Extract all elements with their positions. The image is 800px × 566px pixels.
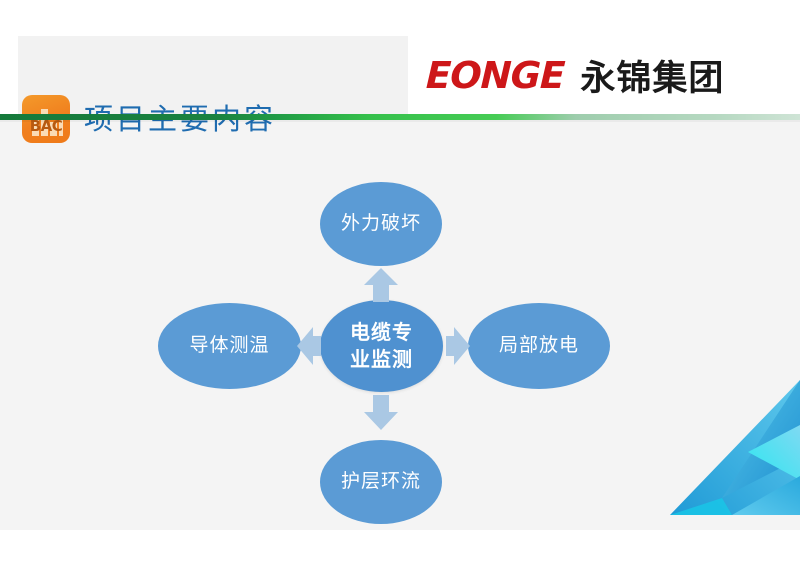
diagram-node-top[interactable]: 外力破坏 — [320, 182, 442, 266]
brand-logo: EONGE 永锦集团 — [408, 36, 800, 114]
header-left-white-edge — [0, 36, 18, 114]
slide-header: BAC 项目主要内容 EONGE 永锦集团 — [0, 36, 800, 114]
arrow-down-icon — [362, 392, 400, 432]
diagram-node-left[interactable]: 导体测温 — [158, 303, 301, 389]
concept-diagram: 外力破坏 导体测温 局部放电 护层环流 电缆专 业监测 — [0, 120, 800, 530]
diagram-node-bottom[interactable]: 护层环流 — [320, 440, 442, 524]
diagram-node-right[interactable]: 局部放电 — [468, 303, 610, 389]
slide-bottom-white-strip — [0, 530, 800, 566]
slide-canvas: BAC 项目主要内容 EONGE 永锦集团 外力破坏 导体测温 局部放电 护层环… — [0, 36, 800, 530]
arrow-right-icon — [445, 322, 471, 370]
arrow-up-icon — [362, 266, 400, 304]
diagram-node-center[interactable]: 电缆专 业监测 — [320, 300, 443, 392]
arrow-left-icon — [296, 322, 322, 370]
brand-name-en: EONGE — [425, 54, 565, 97]
diagram-center-line-1: 电缆专 — [350, 319, 413, 346]
diagram-center-line-2: 业监测 — [350, 346, 413, 373]
brand-name-cn: 永锦集团 — [580, 50, 724, 101]
